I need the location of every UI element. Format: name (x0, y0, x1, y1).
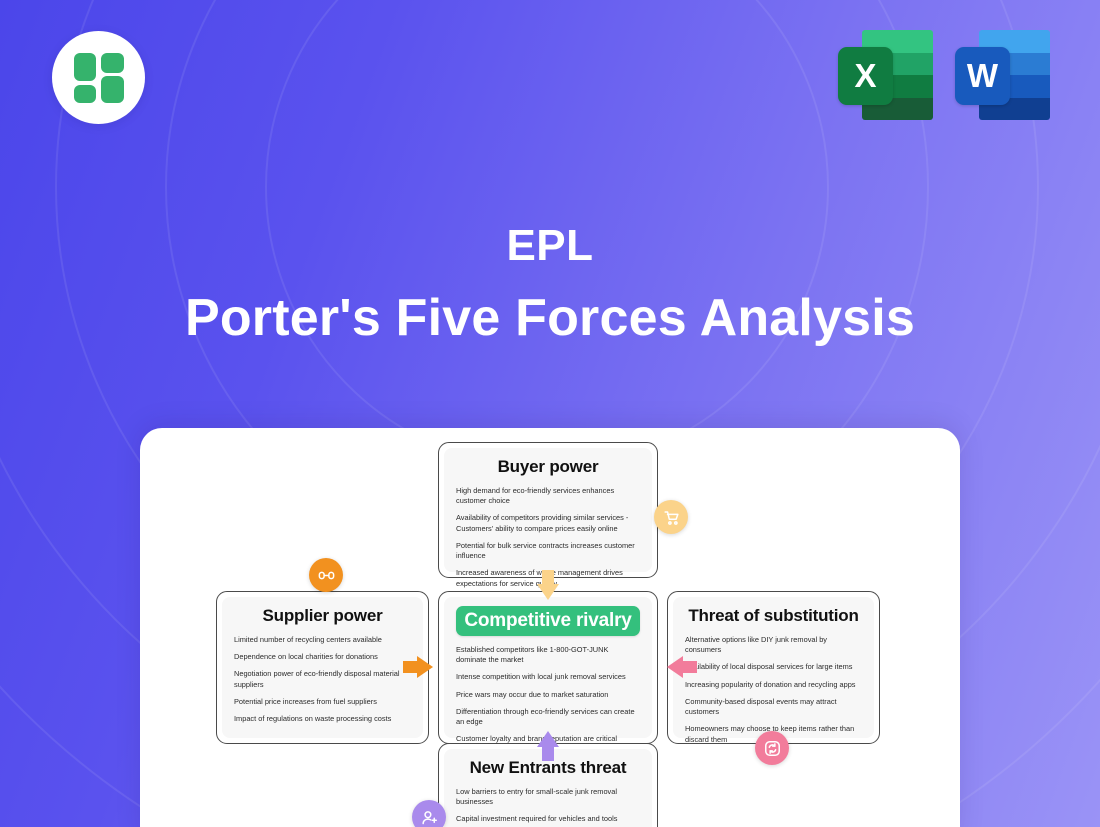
list-item: High demand for eco-friendly services en… (456, 486, 640, 506)
list-item: Limited number of recycling centers avai… (234, 635, 411, 645)
shopping-cart-icon (662, 508, 681, 527)
list-item: Price wars may occur due to market satur… (456, 690, 640, 700)
slide-canvas: X W EPL Porter's Five Forces Analysis Bu… (0, 0, 1100, 827)
porters-five-forces-diagram: Buyer power High demand for eco-friendly… (140, 428, 960, 827)
arrow-buyer-to-rivalry (537, 570, 559, 600)
box-threat-of-substitution[interactable]: Threat of substitution Alternative optio… (667, 591, 880, 744)
list-item: Capital investment required for vehicles… (456, 814, 640, 824)
grid-logo (52, 31, 145, 124)
excel-icon[interactable]: X (838, 30, 933, 120)
list-item: Differentiation through eco-friendly ser… (456, 707, 640, 727)
supplier-badge (309, 558, 343, 592)
list-item: Established competitors like 1-800-GOT-J… (456, 645, 640, 665)
box-competitive-rivalry[interactable]: Competitive rivalry Established competit… (438, 591, 658, 744)
list-item: Negotiation power of eco-friendly dispos… (234, 669, 411, 689)
box-items-new-entrants-threat: Low barriers to entry for small-scale ju… (456, 787, 640, 827)
box-items-supplier-power: Limited number of recycling centers avai… (234, 635, 411, 724)
arrow-supplier-to-rivalry (403, 656, 433, 678)
list-item: Potential price increases from fuel supp… (234, 697, 411, 707)
list-item: Low barriers to entry for small-scale ju… (456, 787, 640, 807)
link-icon (317, 566, 336, 585)
box-items-threat-of-substitution: Alternative options like DIY junk remova… (685, 635, 862, 745)
list-item: Increasing popularity of donation and re… (685, 680, 862, 690)
list-item: Availability of competitors providing si… (456, 513, 640, 533)
box-title-threat-of-substitution: Threat of substitution (685, 606, 862, 626)
diagram-card: Buyer power High demand for eco-friendly… (140, 428, 960, 827)
list-item: Dependence on local charities for donati… (234, 652, 411, 662)
title-block: EPL Porter's Five Forces Analysis (0, 222, 1100, 348)
substitution-badge (755, 731, 789, 765)
add-user-icon (420, 808, 439, 827)
export-format-icons: X W (838, 30, 1050, 120)
box-title-new-entrants-threat: New Entrants threat (456, 758, 640, 778)
logo-tile-2 (101, 53, 124, 73)
list-item: Intense competition with local junk remo… (456, 672, 640, 682)
box-title-supplier-power: Supplier power (234, 606, 411, 626)
subject-title: EPL (0, 222, 1100, 270)
excel-letter: X (838, 47, 893, 105)
page-title: Porter's Five Forces Analysis (0, 290, 1100, 347)
box-buyer-power[interactable]: Buyer power High demand for eco-friendly… (438, 442, 658, 578)
word-icon[interactable]: W (955, 30, 1050, 120)
arrow-entrants-to-rivalry (537, 731, 559, 761)
logo-tile-4 (101, 76, 124, 103)
logo-tile-1 (74, 53, 96, 81)
buyer-badge (654, 500, 688, 534)
word-letter: W (955, 47, 1010, 105)
grid-logo-icon (74, 53, 124, 103)
list-item: Impact of regulations on waste processin… (234, 714, 411, 724)
refresh-icon (763, 739, 782, 758)
entrants-badge (412, 800, 446, 827)
list-item: Community-based disposal events may attr… (685, 697, 862, 717)
arrow-substitution-to-rivalry (667, 656, 697, 678)
list-item: Potential for bulk service contracts inc… (456, 541, 640, 561)
box-title-competitive-rivalry: Competitive rivalry (456, 606, 640, 636)
box-title-buyer-power: Buyer power (456, 457, 640, 477)
logo-tile-3 (74, 85, 96, 103)
list-item: Alternative options like DIY junk remova… (685, 635, 862, 655)
box-supplier-power[interactable]: Supplier power Limited number of recycli… (216, 591, 429, 744)
list-item: Availability of local disposal services … (685, 662, 862, 672)
